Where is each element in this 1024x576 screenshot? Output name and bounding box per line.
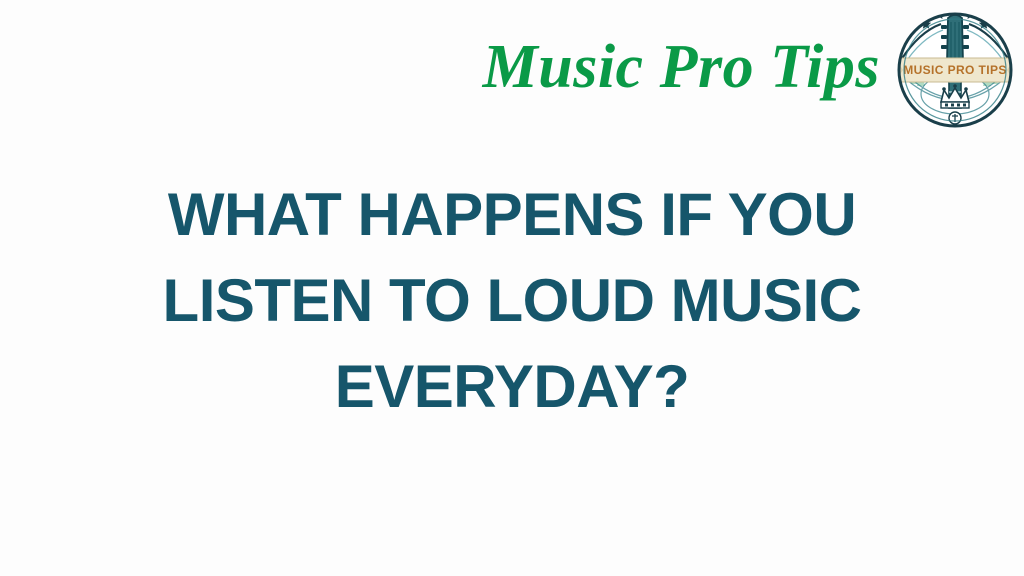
- slide-canvas: Music Pro Tips: [0, 0, 1024, 576]
- headline-block: WHAT HAPPENS IF YOU LISTEN TO LOUD MUSIC…: [0, 172, 1024, 430]
- brand-logo-badge: MUSIC PRO TIPS: [893, 2, 1017, 132]
- logo-banner-text: MUSIC PRO TIPS: [903, 63, 1007, 77]
- logo-crown-icon: [941, 84, 969, 108]
- logo-banner: MUSIC PRO TIPS: [895, 58, 1015, 82]
- headline-line-2: LISTEN TO LOUD MUSIC: [0, 258, 1024, 344]
- brand-wordmark: Music Pro Tips: [430, 26, 880, 108]
- logo-bottom-emblem-icon: [949, 112, 961, 124]
- headline-line-3: EVERYDAY?: [0, 344, 1024, 430]
- headline-line-1: WHAT HAPPENS IF YOU: [0, 172, 1024, 258]
